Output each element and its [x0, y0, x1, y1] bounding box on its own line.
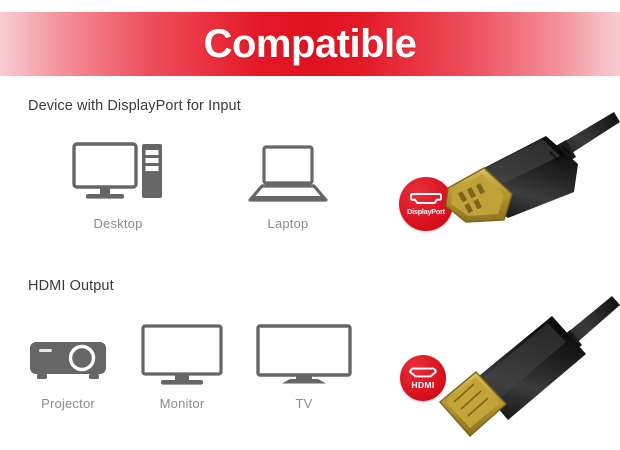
device-item-tv: TV — [244, 308, 364, 411]
compatibility-infographic: Compatible Device with DisplayPort for I… — [0, 0, 620, 450]
section-heading-displayport: Device with DisplayPort for Input — [28, 98, 241, 114]
desktop-computer-icon — [72, 128, 164, 206]
section-heading-hdmi: HDMI Output — [28, 278, 114, 294]
television-icon — [256, 308, 352, 386]
device-label-laptop: Laptop — [268, 216, 309, 231]
device-label-desktop: Desktop — [93, 216, 142, 231]
laptop-icon — [248, 128, 328, 206]
page-title: Compatible — [204, 24, 417, 64]
device-item-laptop: Laptop — [228, 128, 348, 231]
device-item-desktop: Desktop — [58, 128, 178, 231]
device-item-monitor: Monitor — [122, 308, 242, 411]
device-label-monitor: Monitor — [160, 396, 205, 411]
device-label-tv: TV — [295, 396, 312, 411]
hdmi-cable-photo — [430, 296, 620, 449]
displayport-connector-icon — [410, 192, 442, 205]
projector-icon — [26, 308, 110, 386]
displayport-cable-photo — [442, 112, 620, 239]
device-label-projector: Projector — [41, 396, 95, 411]
device-item-projector: Projector — [8, 308, 128, 411]
monitor-icon — [141, 308, 223, 386]
badge-label-displayport: DisplayPort — [407, 208, 445, 215]
header-banner: Compatible — [0, 12, 620, 76]
